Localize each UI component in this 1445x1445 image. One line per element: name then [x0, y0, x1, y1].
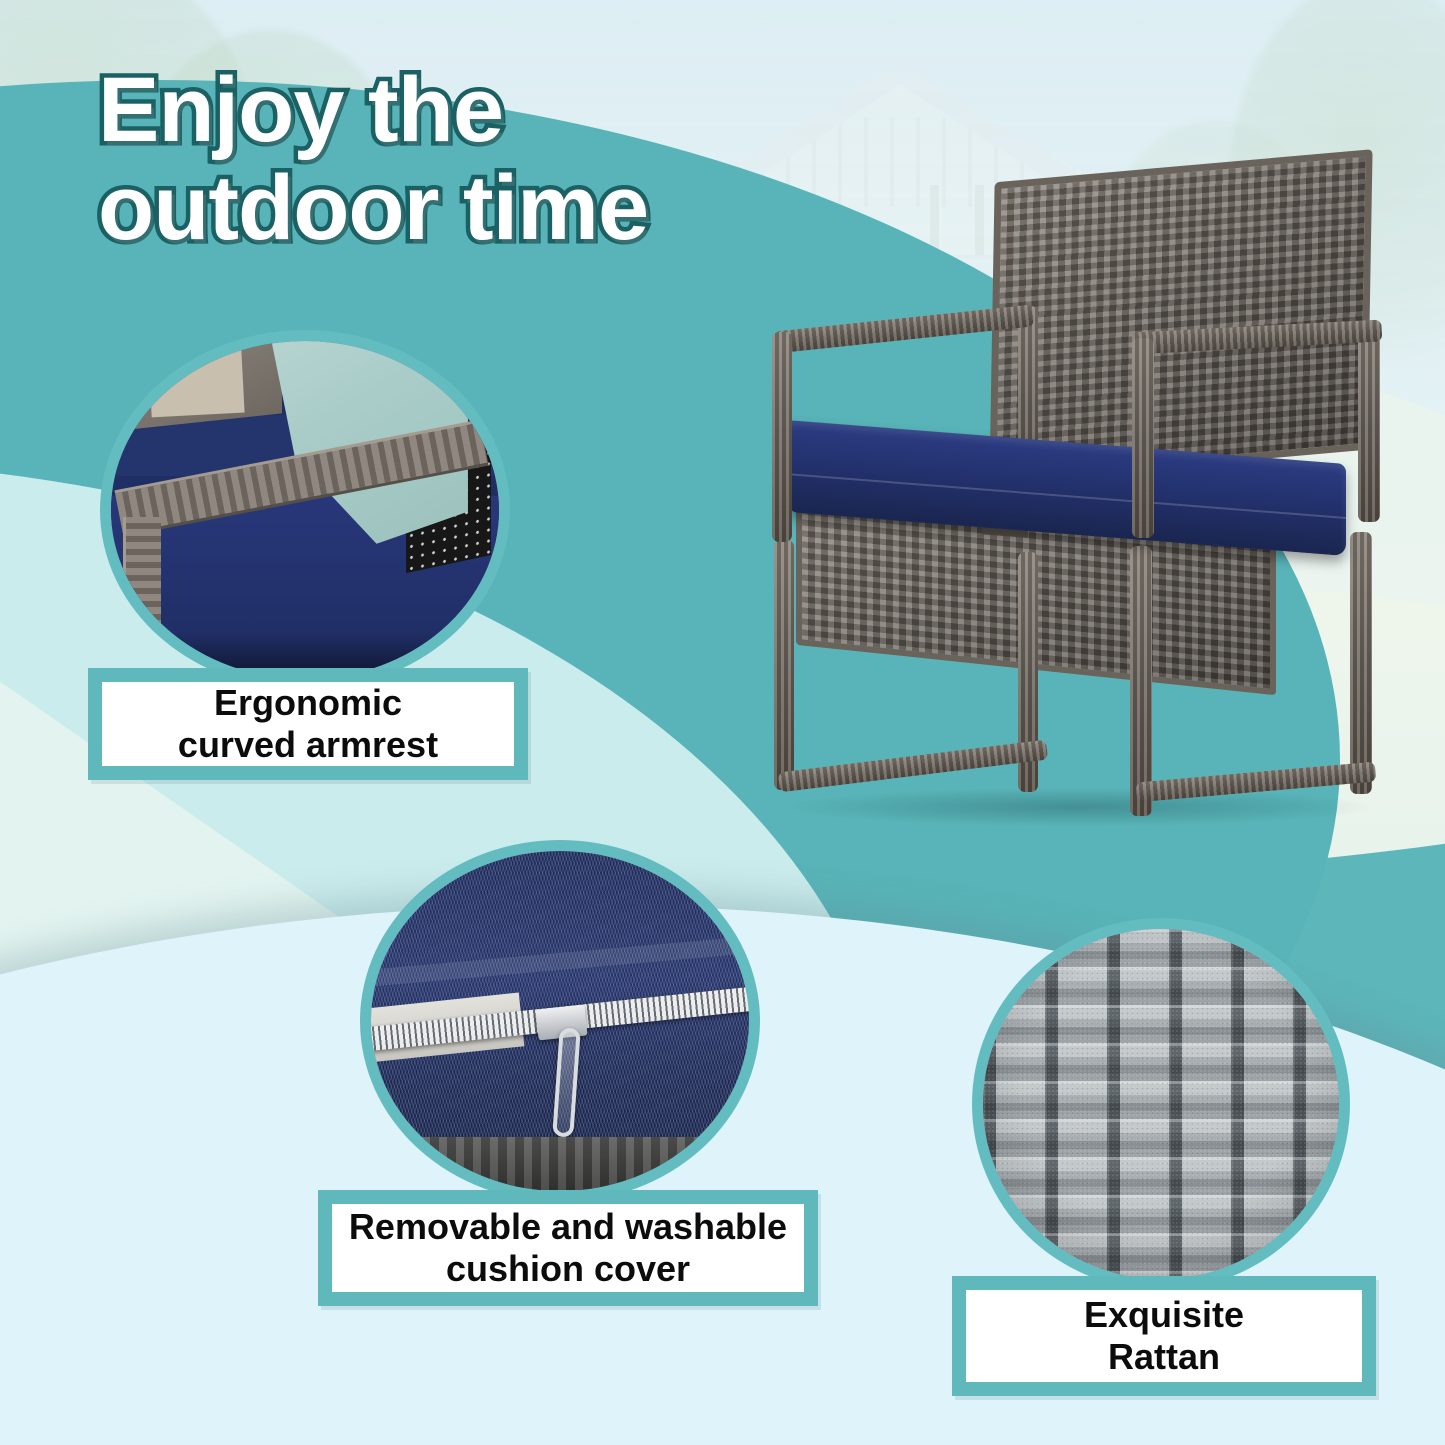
caption-text-armrest: Ergonomic curved armrest [178, 682, 438, 767]
rattan-closeup-photo [983, 929, 1339, 1279]
caption-armrest-line-2: curved armrest [178, 724, 438, 765]
chair-ground-shadow [790, 788, 1370, 826]
zipper-rattan-backdrop [371, 1137, 749, 1191]
chair-arm-post-back-right [1358, 326, 1380, 522]
page-title: Enjoy the outdoor time [98, 62, 858, 257]
zipper-closeup-photo [371, 851, 749, 1191]
feature-photo-armrest [100, 330, 510, 690]
armrest-closeup-photo [111, 341, 499, 679]
caption-box-armrest: Ergonomic curved armrest [88, 668, 528, 780]
chair-arm-post-front-left [772, 332, 792, 542]
caption-box-zipper: Removable and washable cushion cover [318, 1190, 818, 1306]
rattan-vignette [983, 929, 1339, 1279]
feature-photo-zipper [360, 840, 760, 1202]
chair-leg-front-right [1130, 546, 1152, 816]
headline-line-2: outdoor time [98, 160, 858, 258]
chair-leg-front-left [774, 540, 794, 790]
headline-line-1: Enjoy the [98, 59, 503, 161]
caption-rattan-line-2: Rattan [1108, 1336, 1220, 1377]
chair-arm-post-front-right [1132, 338, 1154, 538]
caption-armrest-line-1: Ergonomic [214, 682, 402, 723]
caption-box-rattan: Exquisite Rattan [952, 1276, 1376, 1396]
armrest-cardboard [148, 349, 244, 418]
feature-photo-rattan [972, 918, 1350, 1290]
chair-foot-rail-left [778, 740, 1048, 793]
caption-text-zipper: Removable and washable cushion cover [349, 1206, 787, 1291]
product-chair-image [760, 160, 1390, 850]
product-infographic-poster: Enjoy the outdoor time [0, 0, 1445, 1445]
chair-leg-back-right [1350, 532, 1372, 794]
caption-rattan-line-1: Exquisite [1084, 1294, 1244, 1335]
caption-zipper-line-1: Removable and washable [349, 1206, 787, 1247]
chair-backrest [989, 149, 1372, 483]
caption-zipper-line-2: cushion cover [446, 1248, 690, 1289]
caption-text-rattan: Exquisite Rattan [1084, 1294, 1244, 1379]
